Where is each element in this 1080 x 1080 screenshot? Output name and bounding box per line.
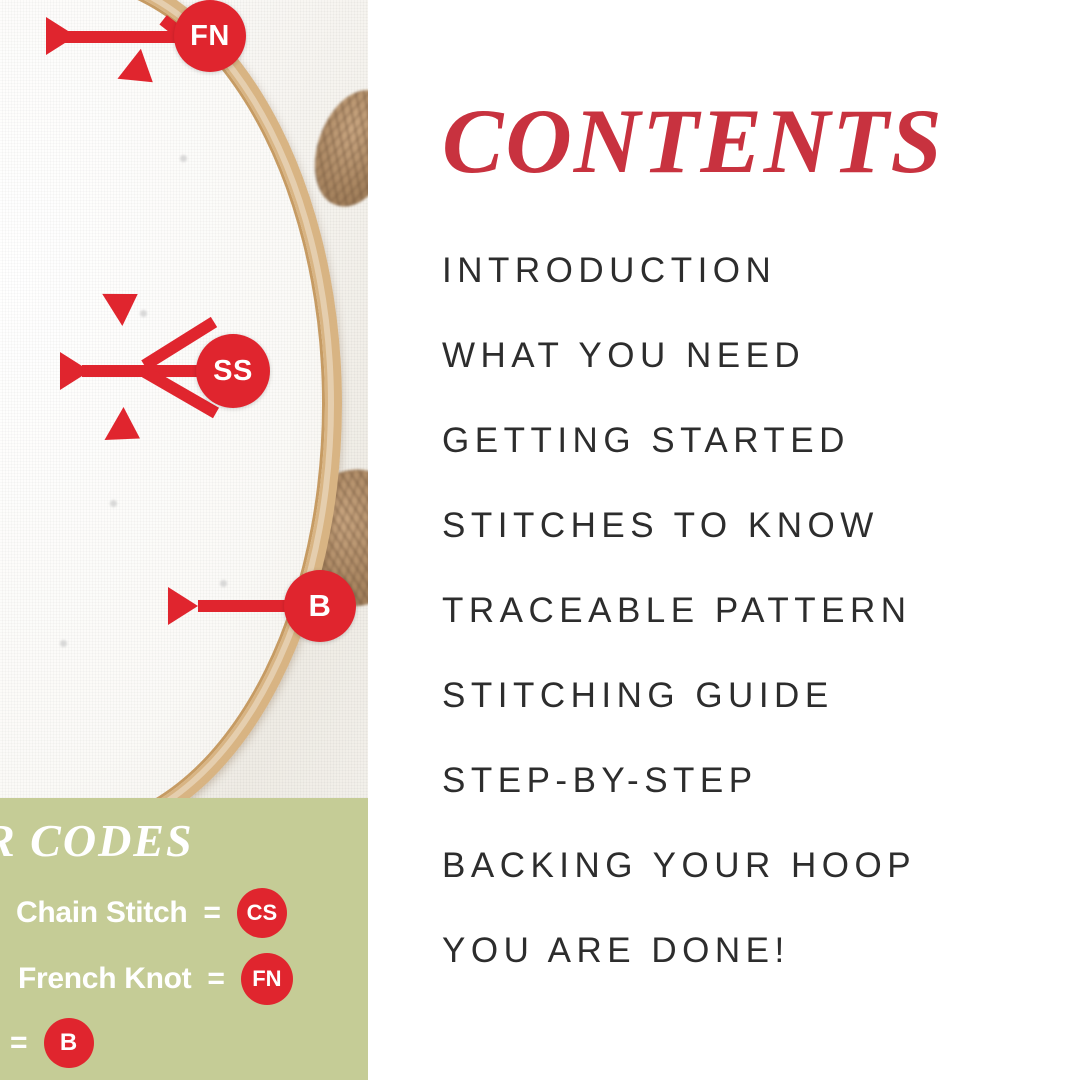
color-code-row: Chain Stitch = CS [16, 888, 287, 938]
contents-item-backing-your-hoop[interactable]: BACKING YOUR HOOP [442, 823, 1062, 908]
color-code-label: French Knot [18, 962, 191, 996]
contents-page: FN SS B R CODES Chain Stitch = CS French… [0, 0, 1080, 1080]
contents-item-what-you-need[interactable]: WHAT YOU NEED [442, 313, 1062, 398]
marker-ss[interactable]: SS [196, 334, 270, 408]
contents-list: INTRODUCTION WHAT YOU NEED GETTING START… [442, 228, 1062, 993]
contents-item-traceable-pattern[interactable]: TRACEABLE PATTERN [442, 568, 1062, 653]
color-code-row: French Knot = FN [18, 953, 293, 1005]
color-code-badge-fn: FN [241, 953, 293, 1005]
contents-item-you-are-done[interactable]: YOU ARE DONE! [442, 908, 1062, 993]
color-code-row: = B [0, 1018, 94, 1068]
contents-column: CONTENTS INTRODUCTION WHAT YOU NEED GETT… [368, 0, 1080, 1080]
marker-b[interactable]: B [284, 570, 356, 642]
color-codes-title: R CODES [0, 814, 194, 867]
fn-arrow-head-left [46, 17, 76, 55]
color-codes-panel: R CODES Chain Stitch = CS French Knot = … [0, 798, 368, 1080]
page-title: CONTENTS [442, 95, 944, 187]
contents-item-introduction[interactable]: INTRODUCTION [442, 228, 1062, 313]
color-code-equals: = [207, 962, 225, 996]
color-code-equals: = [203, 896, 221, 930]
contents-item-stitching-guide[interactable]: STITCHING GUIDE [442, 653, 1062, 738]
color-code-label: Chain Stitch [16, 896, 187, 930]
color-code-equals: = [10, 1026, 28, 1060]
contents-item-getting-started[interactable]: GETTING STARTED [442, 398, 1062, 483]
color-code-badge-b: B [44, 1018, 94, 1068]
contents-item-step-by-step[interactable]: STEP-BY-STEP [442, 738, 1062, 823]
marker-fn[interactable]: FN [174, 0, 246, 72]
b-arrow-head-left [168, 587, 198, 625]
color-code-badge-cs: CS [237, 888, 287, 938]
embroidery-photo-panel: FN SS B R CODES Chain Stitch = CS French… [0, 0, 368, 1080]
ss-arrow-head-left [60, 352, 90, 390]
contents-item-stitches-to-know[interactable]: STITCHES TO KNOW [442, 483, 1062, 568]
